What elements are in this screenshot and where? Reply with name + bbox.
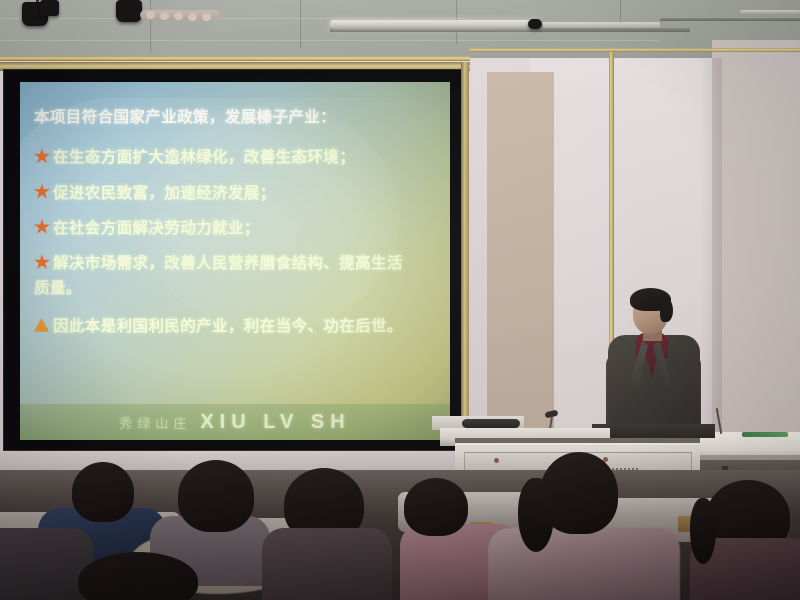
recessed-lamp: [202, 13, 211, 21]
attendee-ponytail-hair: [518, 478, 554, 552]
ceiling-spotlight-icon: [40, 0, 59, 16]
slide-bullet-1-text: 在生态方面扩大造林绿化，改善生态环境；: [53, 148, 355, 166]
lectern-top: [592, 424, 715, 438]
attendee-blue-jacket-head: [72, 462, 134, 522]
presentation-photo-scene: 本项目符合国家产业政策，发展榛子产业： 在生态方面扩大造林绿化，改善生态环境； …: [0, 0, 800, 600]
slide-text-body: 本项目符合国家产业政策，发展榛子产业： 在生态方面扩大造林绿化，改善生态环境； …: [20, 82, 450, 402]
recessed-lamp: [160, 12, 169, 20]
slide-bullet-4-continuation: 质量。: [34, 279, 436, 297]
slide-footer-chinese: 秀绿山庄: [119, 413, 191, 432]
triangle-bullet-icon: [34, 318, 49, 332]
star-bullet-icon: [34, 219, 50, 235]
slide-title: 本项目符合国家产业政策，发展榛子产业：: [34, 108, 436, 126]
star-bullet-icon: [34, 184, 50, 200]
slide-bullet-5-text: 因此本是利国利民的产业，利在当今、功在后世。: [53, 317, 403, 335]
slide-footer: 秀绿山庄 XIU LV SH: [20, 404, 450, 440]
gold-ceiling-trim: [470, 48, 800, 52]
desk-green-object: [742, 432, 788, 437]
star-bullet-icon: [34, 148, 50, 164]
gold-ceiling-trim: [0, 56, 470, 61]
wall-panel: [487, 72, 554, 450]
far-right-wall-section: [712, 40, 800, 480]
slide-bullet-2: 促进农民致富，加速经济发展；: [34, 182, 436, 202]
star-bullet-icon: [34, 254, 50, 270]
fluorescent-tube-light: [740, 10, 800, 14]
screen-gold-frame-right: [461, 62, 469, 452]
projected-slide: 本项目符合国家产业政策，发展榛子产业： 在生态方面扩大造林绿化，改善生态环境； …: [20, 82, 450, 440]
slide-bullet-1: 在生态方面扩大造林绿化，改善生态环境；: [34, 146, 436, 166]
presenter-hair-side: [660, 298, 673, 322]
attendee-right-hair: [690, 498, 716, 564]
microphone-base: [462, 419, 520, 428]
recessed-lamp: [188, 13, 197, 21]
slide-bullet-2-text: 促进农民致富，加速经济发展；: [53, 184, 276, 202]
fluorescent-tube-light: [330, 20, 540, 29]
recessed-lamp: [174, 12, 183, 20]
fluorescent-tube-light: [540, 22, 660, 28]
slide-footer-english: XIU LV SH: [200, 411, 350, 434]
lectern-knob: [494, 458, 499, 463]
slide-bullet-3: 在社会方面解决劳动力就业；: [34, 217, 436, 237]
slide-bullet-3-text: 在社会方面解决劳动力就业；: [53, 219, 260, 237]
slide-bullet-4-continuation-text: 质量。: [34, 279, 82, 297]
recessed-lamp: [146, 11, 155, 19]
slide-title-text: 本项目符合国家产业政策，发展榛子产业：: [34, 108, 336, 126]
attendee-ponytail-fur-jacket: [488, 528, 680, 600]
attendee-pink-jacket-head: [404, 478, 468, 536]
slide-bullet-5: 因此本是利国利民的产业，利在当今、功在后世。: [34, 317, 436, 335]
lighting-track-rail: [660, 18, 800, 21]
ceiling-spotlight-icon: [116, 0, 142, 22]
ceiling-tile-seam: [150, 0, 151, 52]
ceiling-tile-seam: [0, 40, 660, 41]
ceiling-tile-seam: [300, 0, 301, 48]
ceiling-tile-seam: [0, 18, 470, 19]
slide-bullet-4: 解决市场需求，改善人民营养膳食结构、提高生活: [34, 252, 436, 272]
attendee-fur-collar-head: [178, 460, 254, 532]
attendee-center-body: [262, 528, 392, 600]
tube-light-endcap: [528, 19, 542, 29]
slide-bullet-4-text: 解决市场需求，改善人民营养膳食结构、提高生活: [53, 254, 403, 272]
